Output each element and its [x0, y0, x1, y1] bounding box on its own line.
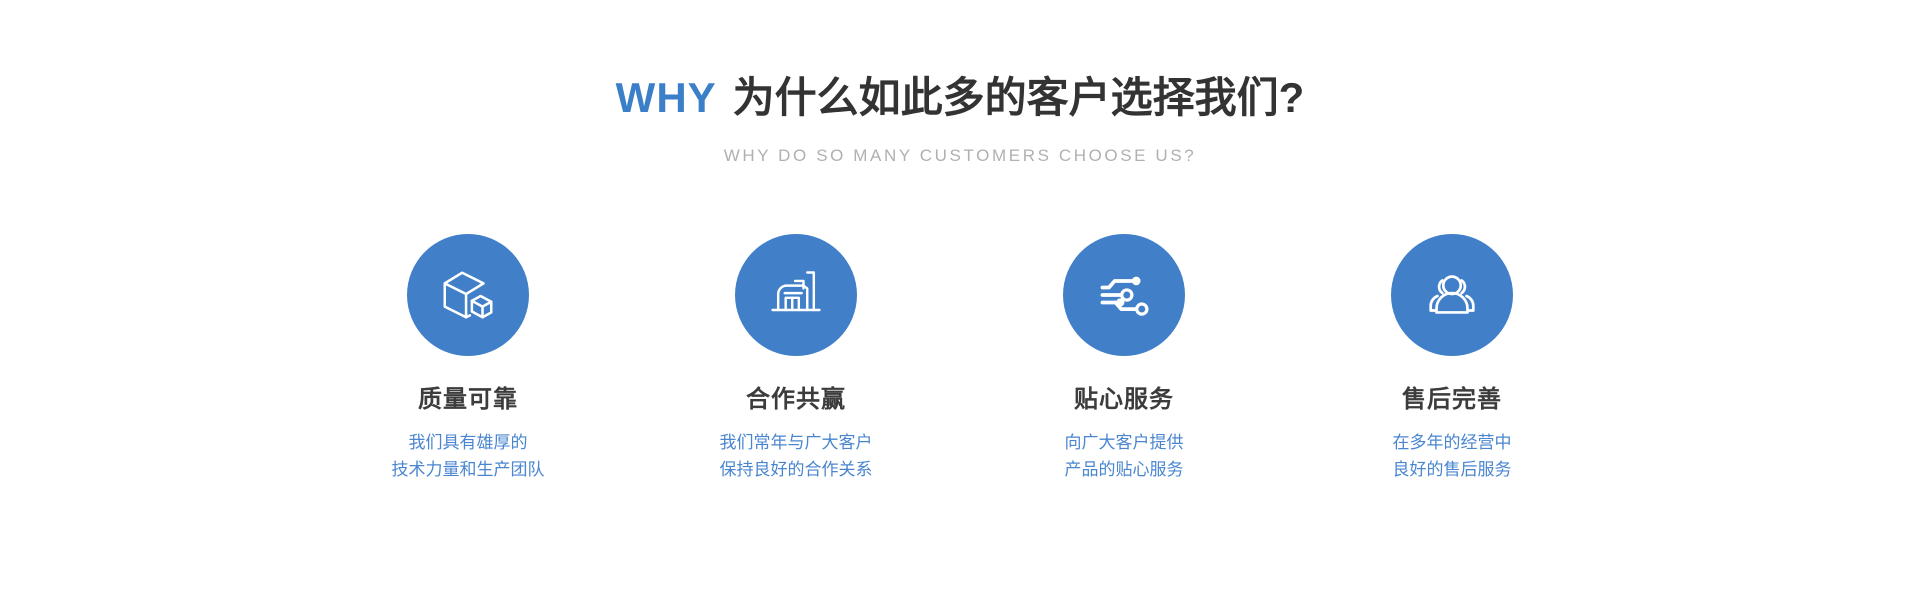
title-prefix-why: WHY: [616, 74, 717, 121]
feature-desc-line-2: 技术力量和生产团队: [392, 456, 545, 483]
feature-card-quality[interactable]: 质量可靠 我们具有雄厚的 技术力量和生产团队: [345, 234, 591, 483]
icon-circle-quality: [407, 234, 529, 356]
feature-card-service[interactable]: 贴心服务 向广大客户提供 产品的贴心服务: [1001, 234, 1247, 483]
users-group-icon: [1421, 264, 1483, 326]
why-choose-us-section: WHY为什么如此多的客户选择我们? WHY DO SO MANY CUSTOME…: [0, 0, 1920, 615]
feature-title: 质量可靠: [418, 386, 518, 415]
feature-desc-line-1: 我们具有雄厚的: [392, 429, 545, 456]
feature-desc-line-1: 在多年的经营中: [1393, 429, 1512, 456]
icon-circle-cooperation: [735, 234, 857, 356]
circuit-nodes-icon: [1094, 265, 1154, 325]
feature-title: 贴心服务: [1074, 386, 1174, 415]
page-title: WHY为什么如此多的客户选择我们?: [0, 74, 1920, 122]
icon-circle-after-sales: [1391, 234, 1513, 356]
feature-card-cooperation[interactable]: 合作共赢 我们常年与广大客户 保持良好的合作关系: [673, 234, 919, 483]
feature-title: 合作共赢: [746, 386, 846, 415]
icon-circle-service: [1063, 234, 1185, 356]
feature-desc-line-2: 良好的售后服务: [1393, 456, 1512, 483]
feature-desc-line-1: 我们常年与广大客户: [720, 429, 873, 456]
feature-desc-line-1: 向广大客户提供: [1065, 429, 1184, 456]
package-box-icon: [437, 264, 499, 326]
heading-block: WHY为什么如此多的客户选择我们? WHY DO SO MANY CUSTOME…: [0, 74, 1920, 166]
feature-description: 我们常年与广大客户 保持良好的合作关系: [720, 429, 873, 483]
feature-desc-line-2: 产品的贴心服务: [1065, 456, 1184, 483]
feature-title: 售后完善: [1402, 386, 1502, 415]
feature-description: 我们具有雄厚的 技术力量和生产团队: [392, 429, 545, 483]
feature-desc-line-2: 保持良好的合作关系: [720, 456, 873, 483]
factory-icon: [766, 265, 826, 325]
title-chinese: 为什么如此多的客户选择我们?: [733, 74, 1305, 121]
features-row: 质量可靠 我们具有雄厚的 技术力量和生产团队: [304, 234, 1616, 483]
feature-card-after-sales[interactable]: 售后完善 在多年的经营中 良好的售后服务: [1329, 234, 1575, 483]
feature-description: 向广大客户提供 产品的贴心服务: [1065, 429, 1184, 483]
feature-description: 在多年的经营中 良好的售后服务: [1393, 429, 1512, 483]
subtitle-english: WHY DO SO MANY CUSTOMERS CHOOSE US?: [0, 146, 1920, 166]
